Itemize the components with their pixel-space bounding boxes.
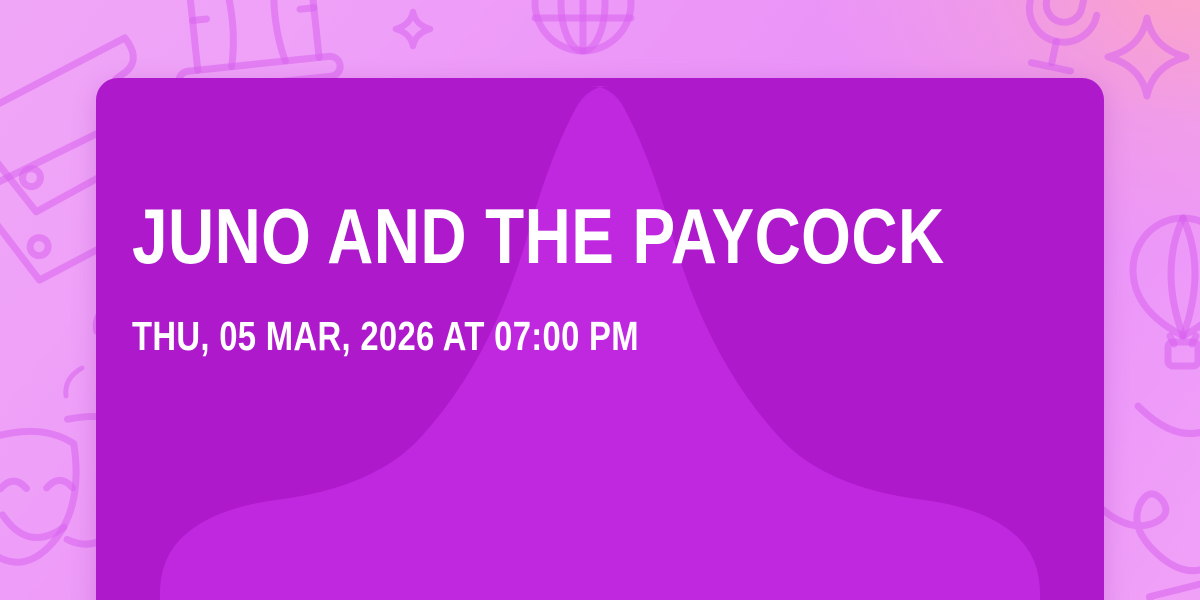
event-card[interactable]: JUNO AND THE PAYCOCK THU, 05 MAR, 2026 A… [96,78,1104,600]
hot-air-balloon-icon [1118,208,1200,378]
event-title: JUNO AND THE PAYCOCK [132,198,896,274]
event-datetime: THU, 05 MAR, 2026 AT 07:00 PM [132,316,878,357]
ticket-stub-icon [1135,543,1200,600]
sparkle-icon [394,10,432,48]
sparkle-icon [1104,14,1190,100]
globe-icon [528,0,638,58]
event-text-block: JUNO AND THE PAYCOCK THU, 05 MAR, 2026 A… [132,198,1064,357]
event-banner: JUNO AND THE PAYCOCK THU, 05 MAR, 2026 A… [0,0,1200,600]
